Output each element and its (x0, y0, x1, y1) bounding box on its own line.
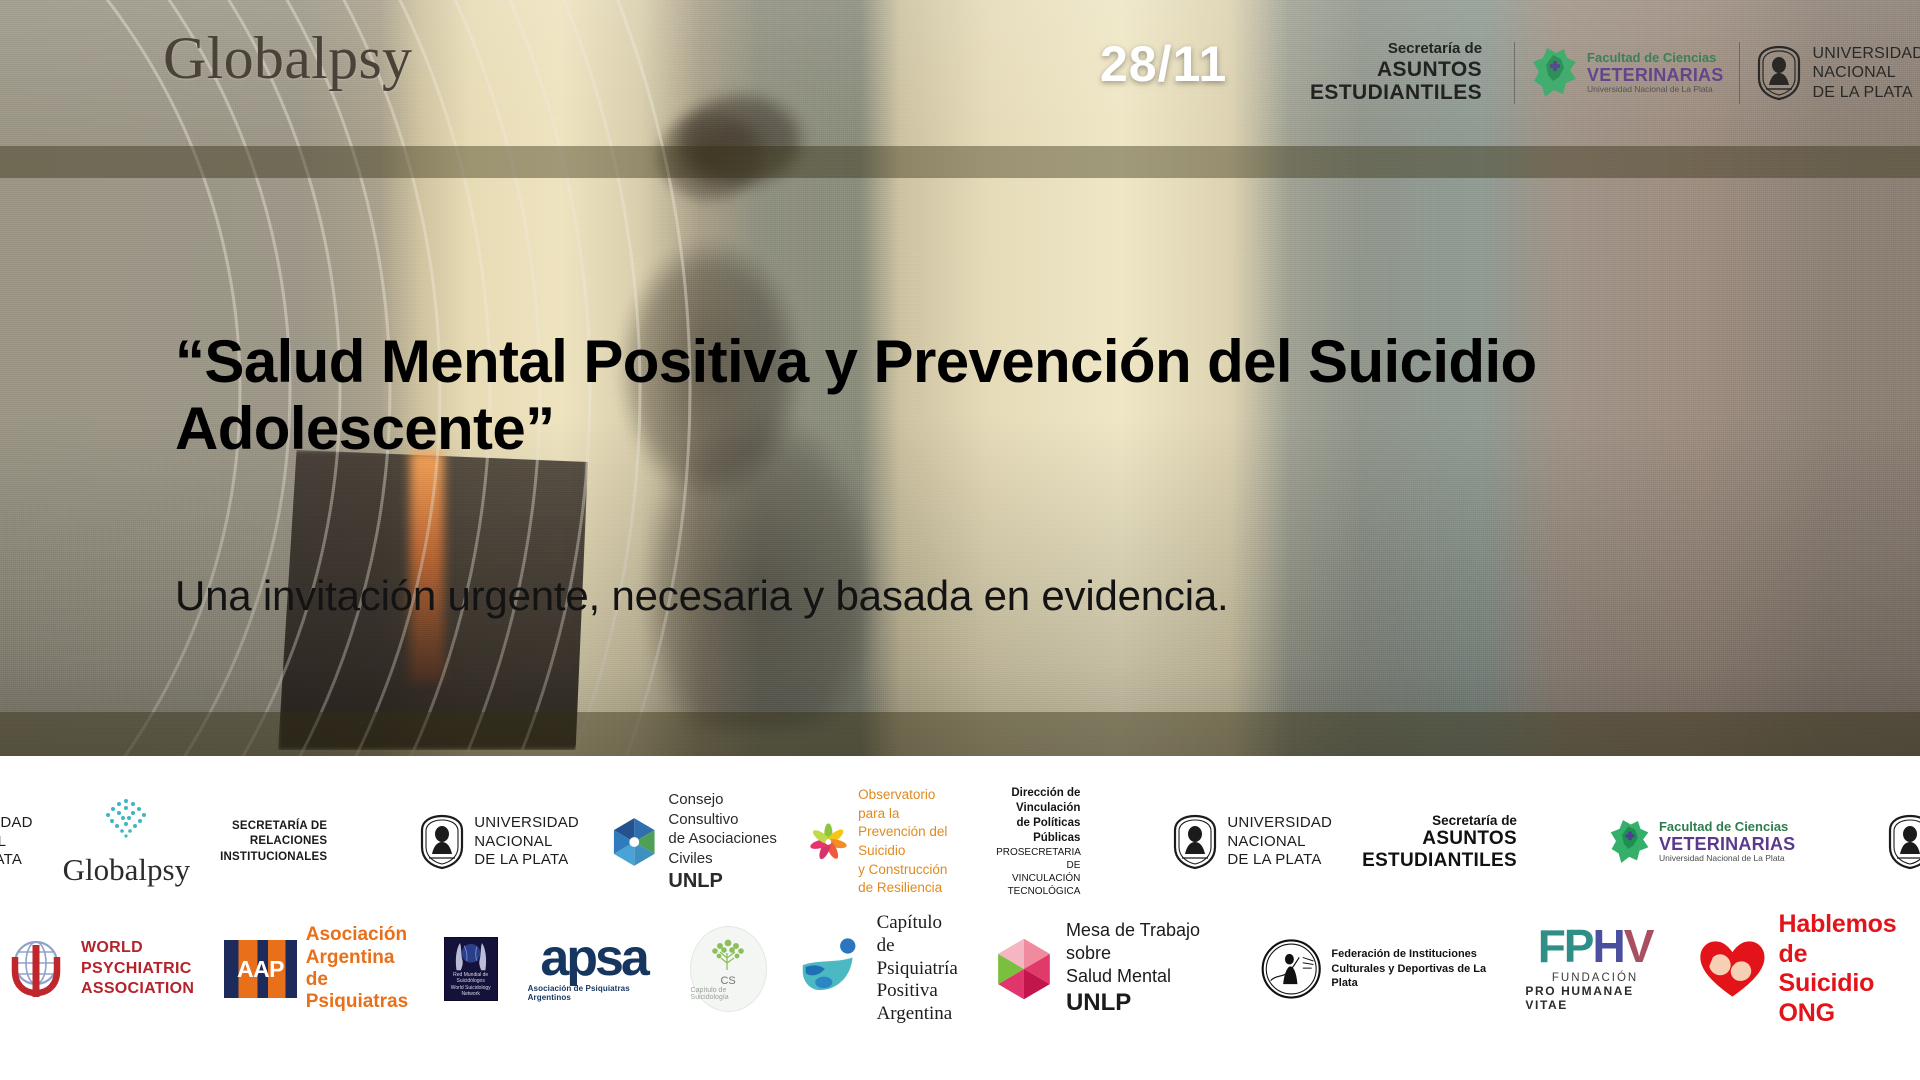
hands-globe-icon (445, 938, 497, 972)
vet2-line2: VETERINARIAS (1659, 835, 1795, 855)
slide-root: Globalpsy 28/11 Secretaría de ASUNTOS ES… (0, 0, 1920, 1080)
apsa-wordmark: apsa (540, 936, 647, 980)
hablemos-text: Hablemos de Suicidio ONG (1779, 910, 1920, 1028)
vet2-line1: Facultad de Ciencias (1659, 820, 1795, 834)
federacion-seal-icon (1260, 934, 1322, 1004)
vet2-line3: Universidad Nacional de La Plata (1659, 854, 1795, 863)
bottom-olive-band (0, 712, 1920, 756)
direccion-line4: VINCULACIÓN TECNOLÓGICA (996, 872, 1080, 898)
wpa-text: WORLD PSYCHIATRIC ASSOCIATION (81, 938, 194, 1000)
unlp-a-line3: DE LA PLATA (0, 851, 33, 870)
header-divider-2 (1739, 42, 1740, 104)
heart-hug-icon (1695, 932, 1770, 1006)
sae2-line1: Secretaría de (1432, 813, 1517, 828)
hexagon-pinwheel-icon (609, 802, 659, 882)
logo-unlp-c: UNIVERSIDAD NACIONAL DE LA PLATA (1172, 814, 1332, 870)
sae-line1: Secretaría de (1388, 41, 1482, 58)
logo-unlp-c-text: UNIVERSIDAD NACIONAL DE LA PLATA (1227, 814, 1332, 870)
flower-petals-icon (808, 807, 849, 877)
hero-image: Globalpsy 28/11 Secretaría de ASUNTOS ES… (0, 0, 1920, 756)
observatorio-line2: para la Prevención del Suicidio (858, 805, 966, 861)
fphv-line2: PRO HUMANAE VITAE (1525, 984, 1664, 1012)
unlp-a-line2: NACIONAL (0, 833, 33, 852)
header-logo-group: Secretaría de ASUNTOS ESTUDIANTILES Facu… (1310, 30, 1920, 116)
logo-aap: AAP Asociación Argentina de Psiquiatras (224, 924, 413, 1014)
logo-capitulo-suicidologia: CS Capítulo de Suicidología (690, 926, 767, 1012)
logo-relaciones-institucionales: SECRETARÍA DE RELACIONES INSTITUCIONALES (220, 819, 327, 866)
page-title: “Salud Mental Positiva y Prevención del … (175, 328, 1675, 462)
aap-text: Asociación Argentina de Psiquiatras (306, 924, 414, 1014)
unlp-line2: NACIONAL (1812, 63, 1920, 83)
hexagon-pinwheel-pink-icon (991, 929, 1057, 1009)
cs-mark: CS (720, 975, 735, 987)
aap-line1: Asociación (306, 924, 414, 946)
vet-line3: Universidad Nacional de La Plata (1587, 85, 1723, 94)
unlp-c-line1: UNIVERSIDAD (1227, 814, 1332, 833)
top-olive-band (0, 146, 1920, 178)
consejo-line3: UNLP (668, 870, 722, 892)
mesa-line1: Mesa de Trabajo sobre (1066, 919, 1230, 965)
federacion-line1: Federación de Instituciones (1331, 947, 1495, 962)
veterinarias-text: Facultad de Ciencias VETERINARIAS Univer… (1587, 51, 1723, 94)
unlp-c-line3: DE LA PLATA (1227, 851, 1332, 870)
logo-veterinarias-footer: Facultad de Ciencias VETERINARIAS Univer… (1609, 817, 1795, 867)
wpa-line3: ASSOCIATION (81, 979, 194, 1000)
unlp-b-line1: UNIVERSIDAD (474, 814, 579, 833)
logo-consejo-consultivo: Consejo Consultivo de Asociaciones Civil… (609, 790, 778, 894)
wpa-globe-psi-icon (0, 933, 72, 1005)
logo-unlp-d: UNIVERSIDAD NACIONAL DE LA PLATA (1887, 814, 1920, 870)
federacion-line2: Culturales y Deportivas de La Plata (1331, 962, 1495, 992)
sae-line2: ASUNTOS (1377, 58, 1482, 82)
sae-line3: ESTUDIANTILES (1310, 81, 1482, 105)
sae2-line3: ESTUDIANTILES (1362, 850, 1517, 872)
wpa-line2: PSYCHIATRIC (81, 959, 194, 980)
unlp-seal-icon (419, 814, 465, 870)
consejo-text: Consejo Consultivo de Asociaciones Civil… (668, 790, 778, 894)
page-subtitle: Una invitación urgente, necesaria y basa… (175, 572, 1735, 620)
header-unlp-text: UNIVERSIDAD NACIONAL DE LA PLATA (1812, 44, 1920, 103)
unlp-line1: UNIVERSIDAD (1812, 44, 1920, 64)
tree-icon (708, 937, 748, 973)
mesa-text: Mesa de Trabajo sobre Salud Mental UNLP (1066, 919, 1230, 1019)
relaciones-line2: RELACIONES INSTITUCIONALES (220, 834, 327, 865)
globalpsy-wordmark: Globalpsy (163, 28, 412, 88)
mesa-line3: UNLP (1066, 989, 1131, 1016)
hablemos-line2: Suicidio ONG (1779, 969, 1920, 1028)
veterinaria-leaf-icon (1609, 817, 1651, 867)
consejo-line1: Consejo Consultivo (668, 790, 778, 829)
logo-unlp-a-text: UNIVERSIDAD NACIONAL DE LA PLATA (0, 814, 33, 870)
unlp-c-line2: NACIONAL (1227, 833, 1332, 852)
apsa-subtitle: Asociación de Psiquiatras Argentinos (528, 984, 660, 1002)
logo-unlp-b-text: UNIVERSIDAD NACIONAL DE LA PLATA (474, 814, 579, 870)
direccion-line3: PROSECRETARIA DE (996, 846, 1080, 872)
logo-asuntos-estudiantiles-footer: Secretaría de ASUNTOS ESTUDIANTILES (1362, 813, 1517, 872)
unlp-seal-icon (1756, 45, 1802, 101)
cppa-text: Capítulo de Psiquiatría Positiva Argenti… (877, 912, 961, 1026)
header-unlp-logo: UNIVERSIDAD NACIONAL DE LA PLATA (1756, 44, 1920, 103)
wave-person-icon (797, 933, 868, 1005)
globalpsy-footer-name: Globalpsy (63, 852, 190, 888)
logo-observatorio: Observatorio para la Prevención del Suic… (808, 786, 966, 898)
logo-federacion: Federación de Instituciones Culturales y… (1260, 934, 1495, 1004)
aap-line2: Argentina de (306, 947, 414, 992)
logo-capitulo-psiquiatria-positiva: Capítulo de Psiquiatría Positiva Argenti… (797, 912, 961, 1026)
aap-line3: Psiquiatras (306, 991, 414, 1013)
aap-mark: AAP (224, 940, 297, 998)
fphv-line1: FUNDACIÓN (1552, 972, 1638, 984)
vet-line2: VETERINARIAS (1587, 66, 1723, 86)
header-veterinarias-logo: Facultad de Ciencias VETERINARIAS Univer… (1531, 45, 1723, 101)
observatorio-text: Observatorio para la Prevención del Suic… (858, 786, 966, 898)
vet-line1: Facultad de Ciencias (1587, 51, 1723, 65)
federacion-text: Federación de Instituciones Culturales y… (1331, 947, 1495, 992)
veterinarias-footer-text: Facultad de Ciencias VETERINARIAS Univer… (1659, 820, 1795, 863)
logo-fphv: FPHV FUNDACIÓN PRO HUMANAE VITAE (1525, 926, 1664, 1011)
unlp-seal-icon (1172, 814, 1218, 870)
sae2-line2: ASUNTOS (1422, 828, 1517, 850)
unlp-seal-icon (1887, 814, 1920, 870)
logo-direccion-vinculacion: Dirección de Vinculación de Políticas Pú… (996, 786, 1080, 898)
logo-mesa-salud-mental: Mesa de Trabajo sobre Salud Mental UNLP (991, 919, 1230, 1019)
relaciones-line1: SECRETARÍA DE (220, 819, 327, 835)
logo-hablemos-de-suicidio: Hablemos de Suicidio ONG (1695, 910, 1920, 1028)
globalpsy-dot-tree-icon (95, 796, 157, 842)
wpa-line1: WORLD (81, 938, 194, 959)
logo-apsa: apsa Asociación de Psiquiatras Argentino… (528, 936, 660, 1001)
event-date: 28/11 (1100, 35, 1227, 93)
logo-world-psychiatric-association: WORLD PSYCHIATRIC ASSOCIATION (0, 933, 194, 1005)
header-bar: Globalpsy 28/11 Secretaría de ASUNTOS ES… (0, 0, 1920, 146)
cppa-line1: Capítulo de (877, 912, 961, 958)
header-asuntos-estudiantiles-logo: Secretaría de ASUNTOS ESTUDIANTILES (1310, 41, 1498, 105)
logo-red-mundial-suicidologos: Red Mundial de Suicidólogos World Suicid… (444, 937, 498, 1001)
consejo-line2: de Asociaciones Civiles (668, 829, 778, 868)
unlp-b-line3: DE LA PLATA (474, 851, 579, 870)
veterinaria-leaf-icon (1531, 45, 1579, 101)
direccion-line2: de Políticas Públicas (996, 816, 1080, 846)
hablemos-line1: Hablemos de (1779, 910, 1920, 969)
observatorio-line3: y Construcción de Resiliencia (858, 861, 966, 898)
cppa-line2: Psiquiatría (877, 958, 961, 981)
rms-line1: Red Mundial de Suicidólogos (445, 972, 497, 985)
unlp-b-line2: NACIONAL (474, 833, 579, 852)
observatorio-line1: Observatorio (858, 786, 966, 805)
cs-subtitle: Capítulo de Suicidología (691, 987, 766, 1001)
fphv-wordmark: FPHV (1538, 926, 1653, 967)
sponsor-logos-area: UNIVERSIDAD NACIONAL DE LA PLATA (0, 756, 1920, 1080)
rms-line2: World Suicidology Network (445, 985, 497, 998)
sponsor-row-2: WORLD PSYCHIATRIC ASSOCIATION AAP Asocia… (0, 910, 1920, 1028)
unlp-line3: DE LA PLATA (1812, 83, 1920, 103)
cppa-line4: Argentina (877, 1003, 961, 1026)
sponsor-row-1: UNIVERSIDAD NACIONAL DE LA PLATA (0, 786, 1920, 898)
rms-text: Red Mundial de Suicidólogos World Suicid… (445, 972, 497, 1000)
cppa-line3: Positiva (877, 980, 961, 1003)
mesa-line2: Salud Mental (1066, 965, 1230, 988)
unlp-a-line1: UNIVERSIDAD (0, 814, 33, 833)
logo-globalpsy: Globalpsy (63, 796, 190, 888)
direccion-line1: Dirección de Vinculación (996, 786, 1080, 816)
header-divider-1 (1514, 42, 1515, 104)
logo-unlp-b: UNIVERSIDAD NACIONAL DE LA PLATA (419, 814, 579, 870)
logo-unlp-a: UNIVERSIDAD NACIONAL DE LA PLATA (0, 814, 33, 870)
